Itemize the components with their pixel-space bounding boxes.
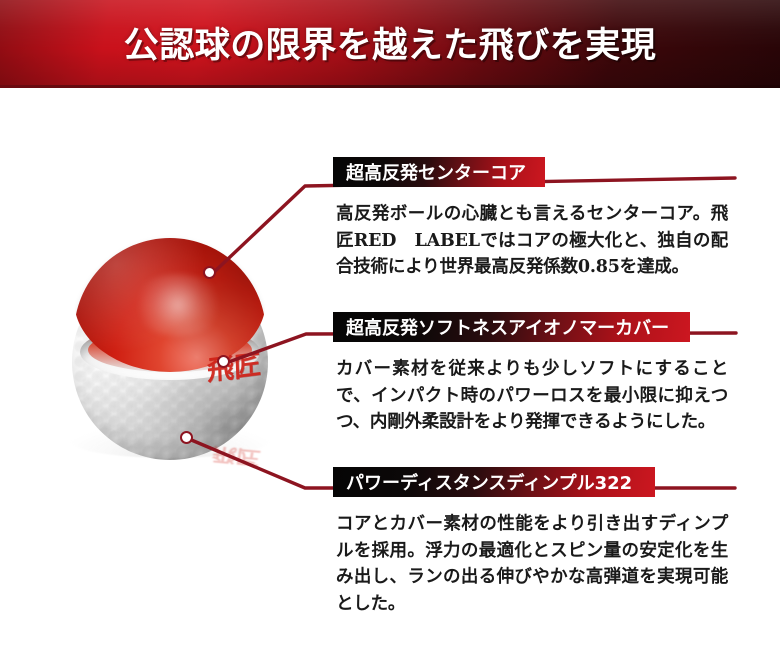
callout-dot-core bbox=[203, 266, 216, 279]
feature-body-1: 高反発ボールの心臓とも言えるセンターコア。飛匠RED LABELではコアの極大化… bbox=[336, 201, 728, 281]
page-title: 公認球の限界を越えた飛びを実現 bbox=[0, 0, 780, 88]
infographic-root: 公認球の限界を越えた飛びを実現 飛匠 飛匠 超高反発センターコア 高反発ボールの… bbox=[0, 0, 780, 665]
ball-reflection-logo: 飛匠 bbox=[208, 417, 269, 467]
feature-body-2: カバー素材を従来よりも少しソフトにすることで、インパクト時のパワーロスを最小限に… bbox=[336, 356, 728, 436]
feature-label-2: 超高反発ソフトネスアイオノマーカバー bbox=[333, 312, 690, 342]
feature-label-1: 超高反発センターコア bbox=[333, 157, 545, 187]
golf-ball-illustration: 飛匠 飛匠 bbox=[58, 228, 308, 528]
core-highlight bbox=[130, 274, 226, 336]
feature-body-3: コアとカバー素材の性能をより引き出すディンプルを採用。浮力の最適化とスピン量の安… bbox=[336, 511, 728, 617]
callout-dot-dimple bbox=[180, 431, 193, 444]
callout-dot-cover bbox=[217, 355, 230, 368]
feature-label-3: パワーディスタンスディンプル322 bbox=[333, 467, 655, 497]
